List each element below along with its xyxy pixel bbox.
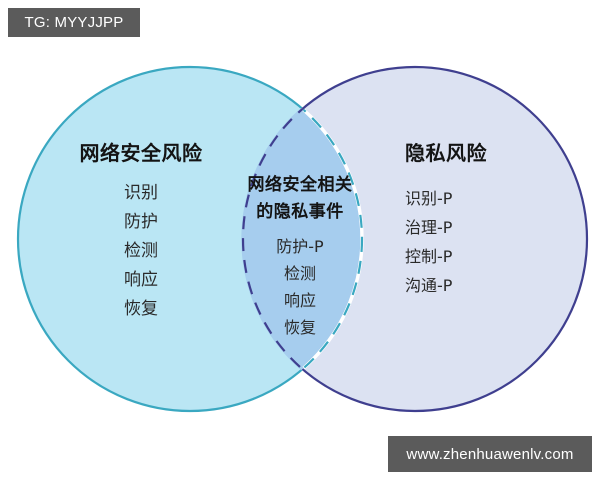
right-set-label-group: 隐私风险 识别-P 治理-P 控制-P 沟通-P <box>378 140 578 296</box>
intersection-label-group: 网络安全相关 的隐私事件 防护-P 检测 响应 恢复 <box>222 172 378 338</box>
intersection-item-list: 防护-P 检测 响应 恢复 <box>222 236 378 338</box>
left-set-item-list: 识别 防护 检测 响应 恢复 <box>36 182 246 320</box>
left-set-item: 识别 <box>36 182 246 204</box>
site-watermark-badge: www.zhenhuawenlv.com <box>388 436 592 472</box>
right-set-item-list: 识别-P 治理-P 控制-P 沟通-P <box>378 188 578 296</box>
left-set-title: 网络安全风险 <box>36 140 246 166</box>
intersection-title-line-1: 网络安全相关 <box>222 172 378 199</box>
right-set-item: 沟通-P <box>405 275 452 296</box>
left-set-item: 响应 <box>36 269 246 291</box>
left-set-label-group: 网络安全风险 识别 防护 检测 响应 恢复 <box>36 140 246 320</box>
right-set-title: 隐私风险 <box>378 140 578 166</box>
intersection-item: 防护-P <box>222 236 378 257</box>
intersection-title-line-2: 的隐私事件 <box>222 199 378 226</box>
diagram-canvas: 网络安全风险 识别 防护 检测 响应 恢复 网络安全相关 的隐私事件 防护-P … <box>0 0 600 480</box>
left-set-item: 防护 <box>36 211 246 233</box>
right-set-item: 治理-P <box>405 217 452 238</box>
intersection-item: 检测 <box>222 263 378 284</box>
right-set-item: 控制-P <box>405 246 452 267</box>
left-set-item: 恢复 <box>36 298 246 320</box>
tg-watermark-badge: TG: MYYJJPP <box>8 8 140 37</box>
intersection-item: 恢复 <box>222 317 378 338</box>
right-set-item: 识别-P <box>405 188 452 209</box>
intersection-item: 响应 <box>222 290 378 311</box>
left-set-item: 检测 <box>36 240 246 262</box>
